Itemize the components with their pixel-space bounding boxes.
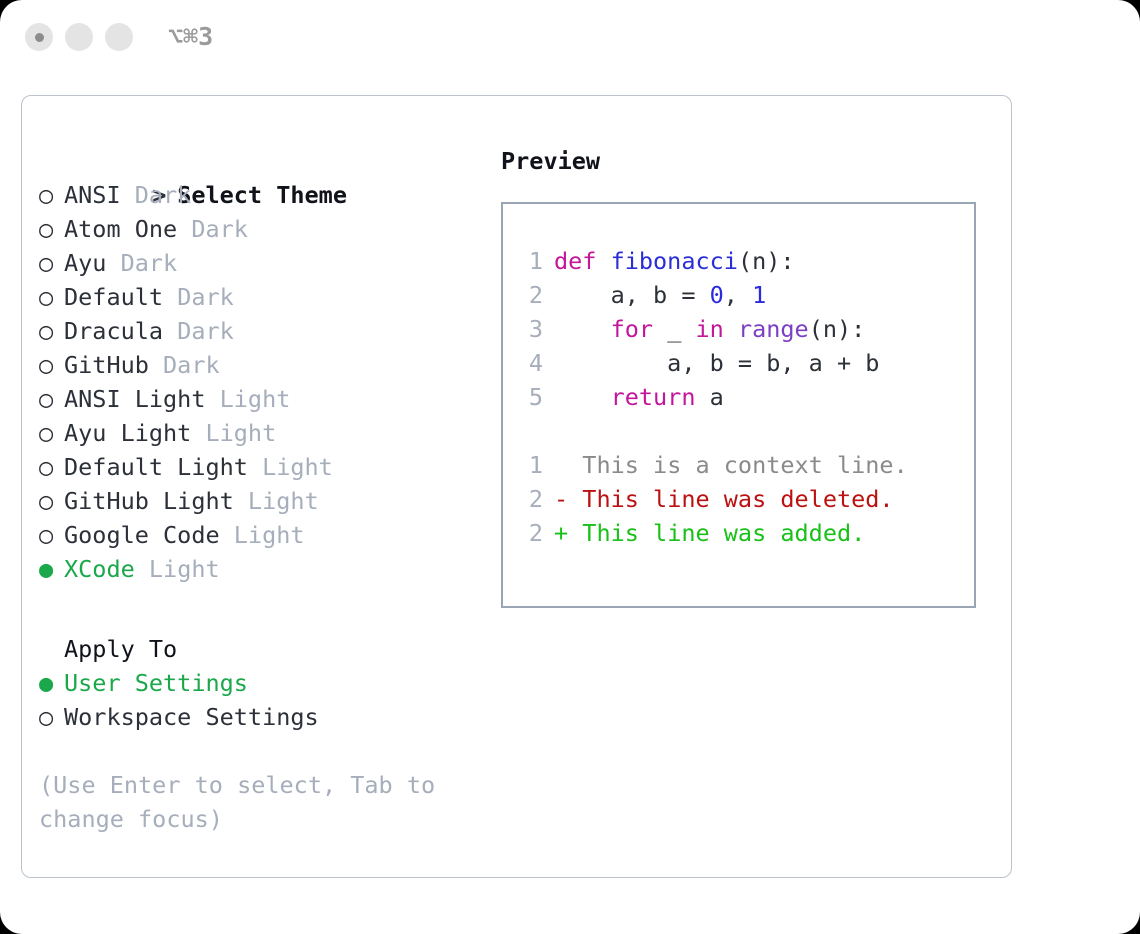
code-line-number: 4 [518, 346, 543, 380]
theme-category: Light [248, 453, 333, 481]
theme-list-item[interactable]: ○Atom One Dark [39, 212, 489, 246]
window-dot-second-icon[interactable] [65, 23, 93, 51]
theme-category: Light [191, 419, 276, 447]
theme-list-header: >Select Theme [39, 144, 489, 178]
window-dot-active-icon[interactable] [25, 23, 53, 51]
main-panel: >Select Theme ○ANSI Dark○Atom One Dark○A… [21, 95, 1012, 878]
code-token: range [738, 315, 809, 343]
theme-list: ○ANSI Dark○Atom One Dark○Ayu Dark○Defaul… [39, 178, 489, 586]
diff-text: This is a context line. [568, 451, 908, 479]
diff-text: This line was deleted. [568, 485, 893, 513]
theme-list-item[interactable]: ●XCode Light [39, 552, 489, 586]
theme-list-item[interactable]: ○Dracula Dark [39, 314, 489, 348]
radio-unselected-icon[interactable]: ○ [39, 518, 64, 552]
title-bar: ⌥⌘3 [0, 0, 1140, 76]
theme-category: Light [135, 555, 220, 583]
apply-to-label: Workspace Settings [64, 703, 319, 731]
radio-unselected-icon[interactable]: ○ [39, 246, 64, 280]
theme-name: Default Light [64, 453, 248, 481]
app-window: ⌥⌘3 >Select Theme ○ANSI Dark○Atom One Da… [0, 0, 1140, 934]
theme-list-item[interactable]: ○ANSI Light Light [39, 382, 489, 416]
theme-list-item[interactable]: ○Ayu Light Light [39, 416, 489, 450]
diff-sign: - [554, 485, 568, 513]
diff-sign: + [554, 519, 568, 547]
code-token: a [695, 383, 723, 411]
radio-selected-icon[interactable]: ● [39, 552, 64, 586]
diff-sign [554, 451, 568, 479]
code-line-number: 2 [518, 278, 543, 312]
code-token: _ [653, 315, 695, 343]
apply-to-label: User Settings [64, 669, 248, 697]
theme-list-item[interactable]: ○GitHub Light Light [39, 484, 489, 518]
theme-category: Dark [163, 317, 234, 345]
apply-to-item[interactable]: ○Workspace Settings [39, 700, 489, 734]
theme-name: GitHub [64, 351, 149, 379]
code-line-number: 5 [518, 380, 543, 414]
code-token: for [611, 315, 653, 343]
keyboard-hint: (Use Enter to select, Tab to change focu… [39, 768, 449, 836]
diff-line: 1 This is a context line. [518, 448, 908, 482]
theme-list-item[interactable]: ○Ayu Dark [39, 246, 489, 280]
theme-name: Default [64, 283, 163, 311]
theme-name: Google Code [64, 521, 220, 549]
apply-to-list: ●User Settings○Workspace Settings [39, 666, 489, 734]
theme-category: Dark [106, 249, 177, 277]
theme-name: Ayu [64, 249, 106, 277]
diff-line: 2+ This line was added. [518, 516, 908, 550]
theme-name: XCode [64, 555, 135, 583]
window-dot-inner [35, 33, 44, 42]
theme-list-item[interactable]: ○Default Dark [39, 280, 489, 314]
theme-category: Dark [121, 181, 192, 209]
code-token: (n): [738, 247, 795, 275]
window-dot-third-icon[interactable] [105, 23, 133, 51]
code-line: 2 a, b = 0, 1 [518, 278, 908, 312]
code-token [554, 315, 611, 343]
code-token: 1 [752, 281, 766, 309]
code-token: return [611, 383, 696, 411]
code-line: 5 return a [518, 380, 908, 414]
diff-line-number: 2 [518, 482, 543, 516]
diff-line-number: 2 [518, 516, 543, 550]
radio-unselected-icon[interactable]: ○ [39, 700, 64, 734]
theme-name: ANSI Light [64, 385, 205, 413]
code-token: 0 [710, 281, 724, 309]
theme-selector-column: >Select Theme ○ANSI Dark○Atom One Dark○A… [39, 144, 489, 836]
code-line: 4 a, b = b, a + b [518, 346, 908, 380]
theme-category: Light [220, 521, 305, 549]
preview-column: Preview 1def fibonacci(n):2 a, b = 0, 13… [501, 144, 991, 608]
apply-to-item[interactable]: ●User Settings [39, 666, 489, 700]
code-line: 3 for _ in range(n): [518, 312, 908, 346]
keyboard-shortcut-label: ⌥⌘3 [168, 22, 213, 52]
theme-category: Dark [163, 283, 234, 311]
diff-line: 2- This line was deleted. [518, 482, 908, 516]
code-token: a, b = b, a + b [554, 349, 879, 377]
radio-unselected-icon[interactable]: ○ [39, 314, 64, 348]
code-token: def [554, 247, 611, 275]
radio-selected-icon[interactable]: ● [39, 666, 64, 700]
radio-unselected-icon[interactable]: ○ [39, 484, 64, 518]
code-token [724, 315, 738, 343]
theme-category: Light [234, 487, 319, 515]
section-spacer [39, 586, 489, 632]
apply-to-header: Apply To [39, 632, 489, 666]
theme-name: GitHub Light [64, 487, 234, 515]
theme-name: Dracula [64, 317, 163, 345]
window-controls [25, 23, 133, 51]
theme-category: Dark [177, 215, 248, 243]
code-line-number: 3 [518, 312, 543, 346]
preview-box: 1def fibonacci(n):2 a, b = 0, 13 for _ i… [501, 202, 976, 608]
radio-unselected-icon[interactable]: ○ [39, 416, 64, 450]
theme-list-header-label: Select Theme [177, 181, 347, 209]
code-preview: 1def fibonacci(n):2 a, b = 0, 13 for _ i… [518, 244, 908, 550]
theme-category: Dark [149, 351, 220, 379]
code-token: a, b = [554, 281, 710, 309]
code-line: 1def fibonacci(n): [518, 244, 908, 278]
code-token: , [724, 281, 752, 309]
radio-unselected-icon[interactable]: ○ [39, 280, 64, 314]
preview-title: Preview [501, 144, 991, 178]
code-token: (n): [809, 315, 866, 343]
theme-list-item[interactable]: ○Default Light Light [39, 450, 489, 484]
theme-list-item[interactable]: ○GitHub Dark [39, 348, 489, 382]
code-line-number: 1 [518, 244, 543, 278]
diff-line-number: 1 [518, 448, 543, 482]
theme-category: Light [205, 385, 290, 413]
code-blank-line [518, 414, 908, 448]
code-token: fibonacci [611, 247, 738, 275]
code-token [554, 383, 611, 411]
code-token: in [696, 315, 724, 343]
theme-name: Ayu Light [64, 419, 191, 447]
radio-unselected-icon[interactable]: ○ [39, 212, 64, 246]
theme-name: ANSI [64, 181, 121, 209]
radio-unselected-icon[interactable]: ○ [39, 382, 64, 416]
theme-list-item[interactable]: ○Google Code Light [39, 518, 489, 552]
radio-unselected-icon[interactable]: ○ [39, 450, 64, 484]
radio-unselected-icon[interactable]: ○ [39, 178, 64, 212]
theme-name: Atom One [64, 215, 177, 243]
diff-text: This line was added. [568, 519, 865, 547]
radio-unselected-icon[interactable]: ○ [39, 348, 64, 382]
